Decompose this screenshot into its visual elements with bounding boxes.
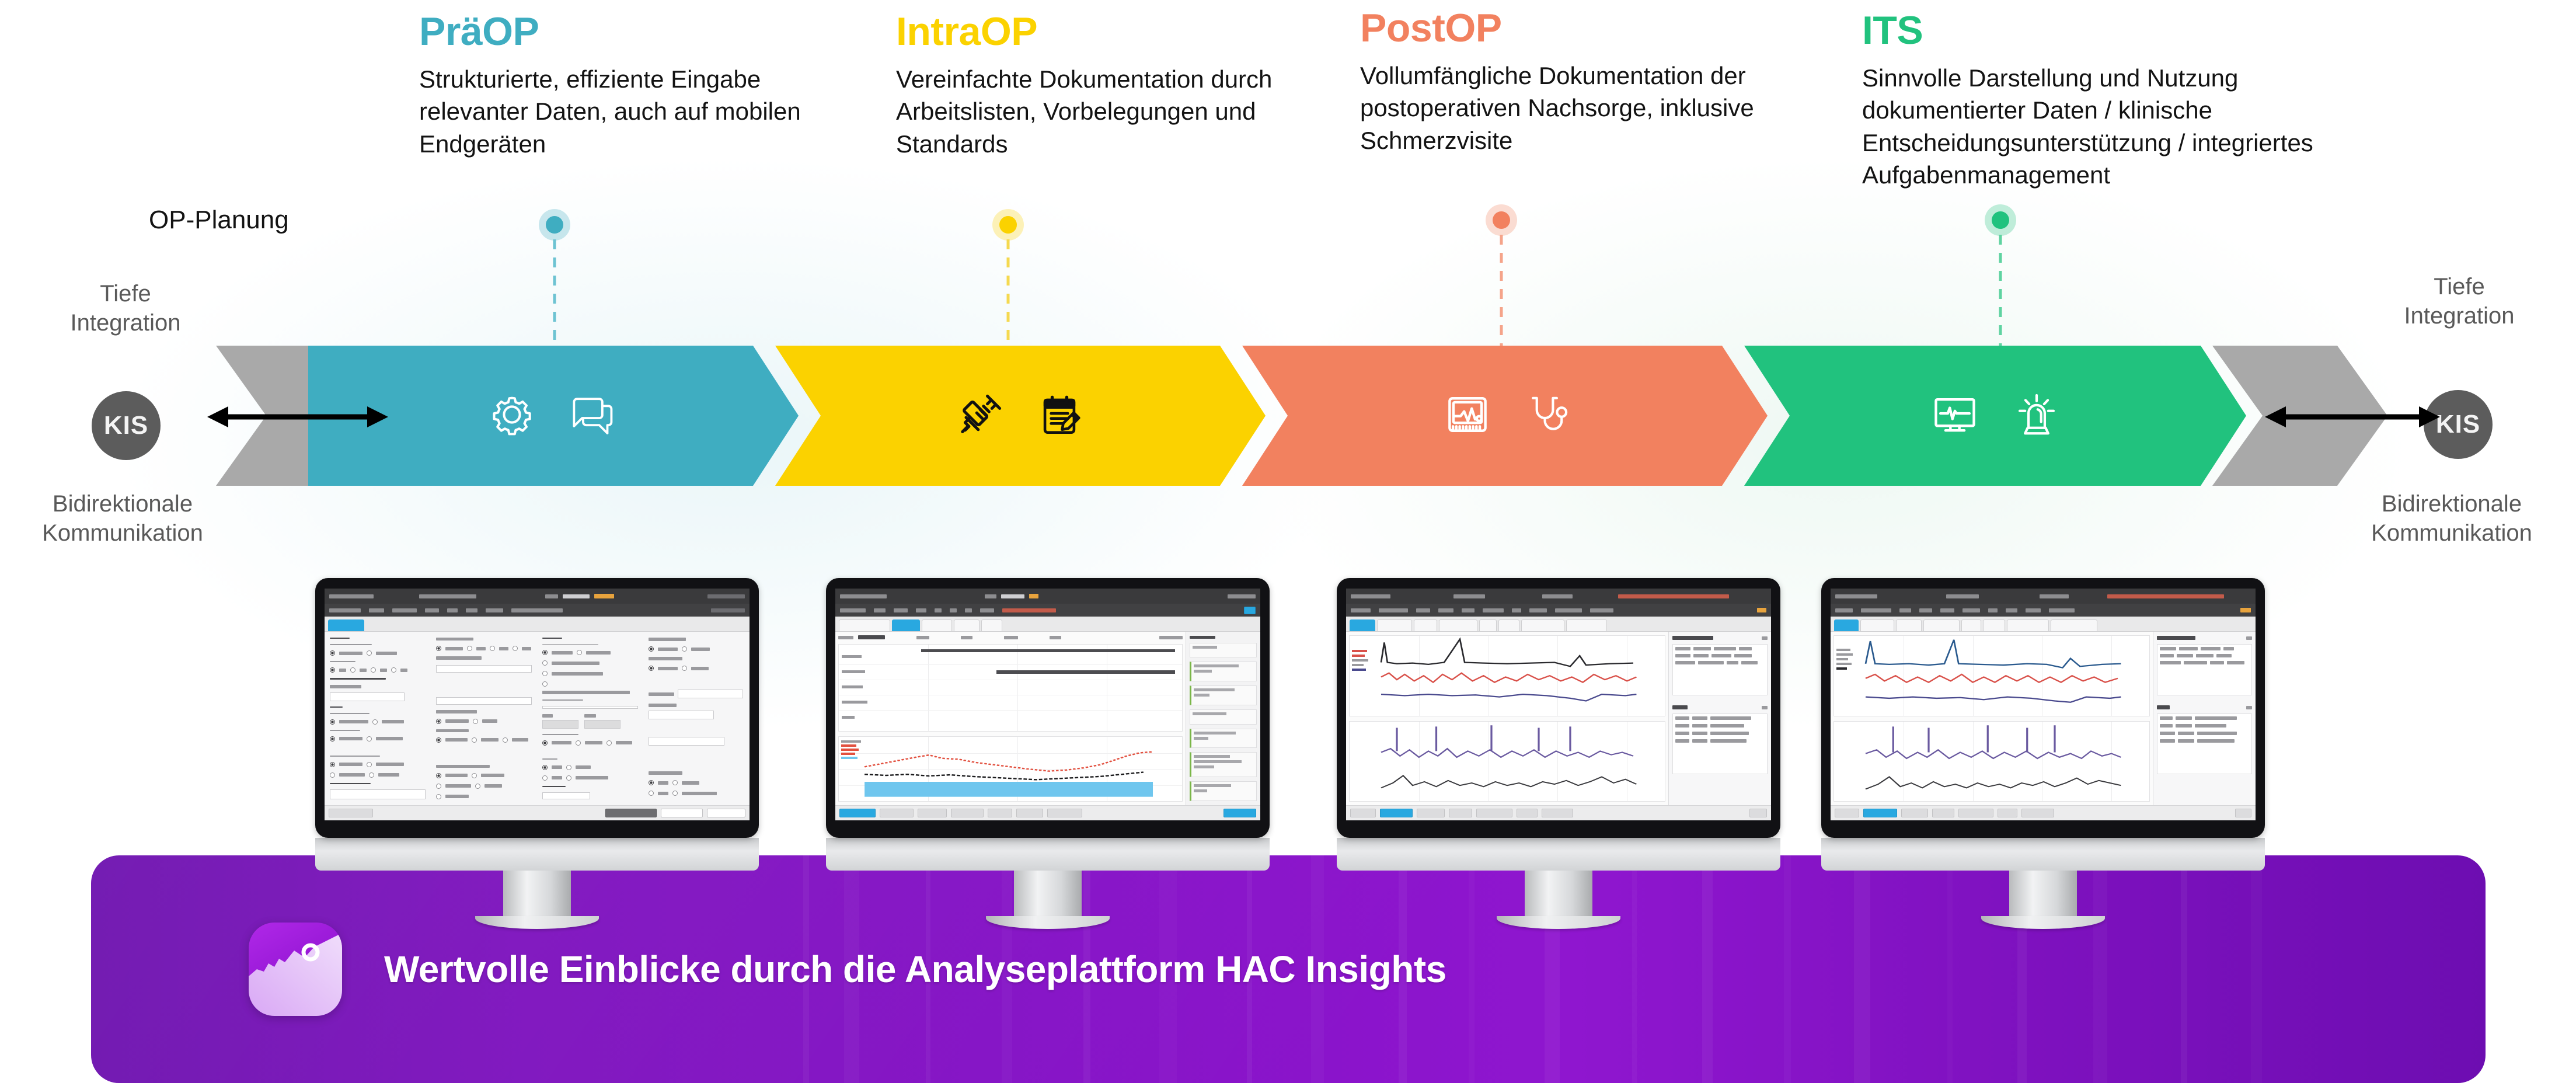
tab-3-2[interactable]	[1377, 619, 1412, 631]
phase-header-praeop: PräOP Strukturierte, effiziente Eingabe …	[419, 12, 839, 160]
left-communication-label: Bidirektionale Kommunikation	[0, 489, 245, 548]
monitor-screen-postop	[1346, 589, 1771, 820]
right-communication-line1: Bidirektionale	[2329, 489, 2574, 518]
monitor-neck-3	[1337, 838, 1780, 871]
monitor-neck-1	[315, 838, 759, 871]
tab-2-5[interactable]	[981, 619, 1002, 631]
phase-title-intraop: IntraOP	[896, 12, 1305, 51]
bottom-action-3-7[interactable]	[1542, 809, 1573, 817]
connector-dot-praeop	[539, 209, 570, 241]
side-card-2-1[interactable]	[1190, 643, 1257, 658]
chevron-its-icons	[1744, 346, 2246, 486]
app-bottom-bar-4[interactable]	[1831, 805, 2256, 820]
app-topbar-secondary-3	[1346, 604, 1771, 617]
form-column-left-1[interactable]	[325, 632, 431, 805]
side-panel-3[interactable]	[1668, 632, 1771, 805]
monitor-neck-4	[1821, 838, 2265, 871]
monitor-foot-4	[1981, 916, 2105, 929]
right-communication-label: Bidirektionale Kommunikation	[2329, 489, 2574, 548]
bottom-action-3-4[interactable]	[1449, 809, 1472, 817]
tab-2-3[interactable]	[922, 619, 952, 631]
phase-description-its: Sinnvolle Darstellung und Nutzung dokume…	[1862, 62, 2329, 192]
trend-charts-4[interactable]	[1831, 632, 2153, 805]
side-card-2-5[interactable]	[1190, 729, 1257, 749]
monitor-stand-2	[1014, 871, 1082, 916]
side-card-2-4[interactable]	[1190, 709, 1257, 725]
alarm-light-icon	[2011, 389, 2062, 443]
phase-title-its: ITS	[1862, 11, 2329, 50]
connector-dot-core-praeop	[546, 216, 563, 234]
bottom-action-4-end[interactable]	[2235, 809, 2251, 817]
app-tabs-3[interactable]	[1346, 617, 1771, 632]
trend-charts-3[interactable]	[1346, 632, 1668, 805]
connector-dot-core-postop	[1493, 211, 1510, 229]
right-integration-label: Tiefe Integration	[2351, 272, 2567, 331]
bottom-action-2-1[interactable]	[839, 809, 876, 817]
left-communication-line2: Kommunikation	[0, 518, 245, 548]
bottom-action-3-3[interactable]	[1417, 809, 1445, 817]
bottom-action-4-6[interactable]	[1998, 809, 2017, 817]
monitor-ecg-icon	[1928, 389, 1982, 443]
bottom-action-2-3[interactable]	[918, 809, 947, 817]
right-integration-line2: Integration	[2351, 301, 2567, 330]
tab-2-4[interactable]	[954, 619, 979, 631]
app-tabs-1[interactable]	[325, 617, 750, 632]
tab-4-6[interactable]	[1983, 619, 2005, 631]
monitor-foot-3	[1497, 916, 1620, 929]
connector-dot-core-its	[1992, 211, 2009, 229]
tab-4-7[interactable]	[2007, 619, 2049, 631]
bottom-action-4-1[interactable]	[1835, 809, 1859, 817]
app-topbar-3	[1346, 589, 1771, 604]
right-communication-line2: Kommunikation	[2329, 518, 2574, 548]
chat-bubbles-icon	[568, 389, 621, 443]
trend-chart-upper-3	[1349, 635, 1665, 716]
connector-dot-its	[1985, 204, 2016, 236]
tab-3-4[interactable]	[1439, 619, 1477, 631]
monitor-intraop	[826, 578, 1270, 929]
tab-4-5[interactable]	[1961, 619, 1981, 631]
monitor-postop	[1337, 578, 1780, 929]
bottom-action-2-4[interactable]	[951, 809, 984, 817]
connector-its	[1985, 204, 2016, 348]
bottom-action-4-5[interactable]	[1958, 809, 1993, 817]
app-topbar-secondary-1	[325, 604, 750, 617]
form-column-center-1[interactable]	[431, 632, 537, 805]
connector-intraop	[992, 209, 1024, 348]
bottom-action-3-5[interactable]	[1476, 809, 1512, 817]
notepad-pencil-icon	[1033, 388, 1086, 444]
infographic-canvas: PräOP Strukturierte, effiziente Eingabe …	[0, 0, 2576, 1086]
app-topbar-secondary-2	[835, 604, 1260, 617]
connector-dot-intraop	[992, 209, 1024, 241]
tab-3-8[interactable]	[1566, 619, 1607, 631]
tab-3-active[interactable]	[1350, 619, 1375, 631]
stethoscope-icon	[1522, 389, 1569, 443]
bottom-action-4-7[interactable]	[2021, 809, 2054, 817]
connector-line-its	[1999, 235, 2002, 348]
phase-header-intraop: IntraOP Vereinfachte Dokumentation durch…	[896, 12, 1305, 160]
tab-3-6[interactable]	[1498, 619, 1519, 631]
bottom-action-3-6[interactable]	[1517, 809, 1538, 817]
app-tabs-4[interactable]	[1831, 617, 2256, 632]
syringe-icon	[954, 388, 1008, 444]
tab-3-3[interactable]	[1414, 619, 1437, 631]
form-column-far-right-1[interactable]	[643, 632, 750, 805]
side-panel-4[interactable]	[2153, 632, 2256, 805]
tab-3-5[interactable]	[1479, 619, 1497, 631]
monitor-stand-1	[503, 871, 571, 916]
form-column-right-1[interactable]	[537, 632, 643, 805]
app-body-3	[1346, 632, 1771, 805]
phase-description-postop: Vollumfängliche Dokumentation der postop…	[1360, 60, 1792, 156]
monitor-bezel-4	[1821, 578, 2265, 838]
bidirectional-arrow-left	[207, 399, 388, 434]
tab-3-7[interactable]	[1521, 619, 1564, 631]
connector-line-postop	[1500, 235, 1503, 348]
monitor-screen-intraop	[835, 589, 1260, 820]
connector-praeop	[539, 209, 570, 348]
trend-chart-upper-4	[1833, 635, 2150, 716]
tab-4-4[interactable]	[1923, 619, 1960, 631]
hac-insights-logo	[249, 923, 342, 1016]
record-timeline-2[interactable]	[835, 632, 1186, 805]
app-topbar-1	[325, 589, 750, 604]
chevron-its[interactable]	[1744, 346, 2246, 486]
phase-description-praeop: Strukturierte, effiziente Eingabe releva…	[419, 63, 839, 160]
monitor-bezel-2	[826, 578, 1270, 838]
tab-4-3[interactable]	[1896, 619, 1922, 631]
save-button[interactable]	[661, 809, 703, 817]
app-tabs-2[interactable]	[835, 617, 1260, 632]
connector-line-praeop	[553, 239, 556, 348]
monitor-foot-2	[986, 916, 1110, 929]
vitals-chart-2	[838, 736, 1183, 802]
left-communication-line1: Bidirektionale	[0, 489, 245, 518]
chevron-postop-icons	[1242, 346, 1768, 486]
bottom-action-4-3[interactable]	[1901, 809, 1928, 817]
tab-4-8[interactable]	[2051, 619, 2097, 631]
timeline-rows-2	[838, 644, 1183, 732]
left-integration-line2: Integration	[18, 308, 233, 337]
connector-postop	[1486, 204, 1517, 348]
bottom-action-2-next[interactable]	[1223, 809, 1256, 817]
app-topbar-2	[835, 589, 1260, 604]
tab-2-active[interactable]	[892, 619, 920, 631]
monitor-screen-its	[1831, 589, 2256, 820]
bottom-action-3-2[interactable]	[1380, 809, 1413, 817]
monitor-bezel-1	[315, 578, 759, 838]
connector-dot-postop	[1486, 204, 1517, 236]
tab-4-2[interactable]	[1860, 619, 1894, 631]
bottom-action-2-2[interactable]	[880, 809, 914, 817]
phase-header-its: ITS Sinnvolle Darstellung und Nutzung do…	[1862, 11, 2329, 192]
tab-active-1[interactable]	[328, 619, 364, 631]
trend-chart-lower-3	[1349, 721, 1665, 802]
monitor-its	[1821, 578, 2265, 929]
tab-4-active[interactable]	[1834, 619, 1859, 631]
phase-description-intraop: Vereinfachte Dokumentation durch Arbeits…	[896, 63, 1305, 160]
ecg-monitor-icon	[1441, 389, 1494, 443]
monitor-stand-3	[1525, 871, 1592, 916]
bidirectional-arrow-right	[2265, 399, 2440, 434]
gear-icon	[486, 389, 538, 443]
trend-chart-lower-4	[1833, 721, 2150, 802]
bottom-action-3-1[interactable]	[1350, 809, 1376, 817]
app-body-2	[835, 632, 1260, 805]
tab-2-1[interactable]	[839, 619, 890, 631]
left-integration-label: Tiefe Integration	[18, 279, 233, 338]
side-card-2-6[interactable]	[1190, 752, 1257, 777]
banner-title: Wertvolle Einblicke durch die Analysepla…	[384, 948, 1446, 991]
app-bottom-bar-3[interactable]	[1346, 805, 1771, 820]
monitor-neck-2	[826, 838, 1270, 871]
right-integration-line1: Tiefe	[2351, 272, 2567, 301]
monitor-bezel-3	[1337, 578, 1780, 838]
chevron-intraop[interactable]	[775, 346, 1266, 486]
monitor-screen-praeop	[325, 589, 750, 820]
side-panel-2[interactable]	[1186, 632, 1260, 805]
chevron-postop[interactable]	[1242, 346, 1768, 486]
side-card-2-7[interactable]	[1190, 781, 1257, 801]
monitor-stand-4	[2009, 871, 2077, 916]
left-integration-line1: Tiefe	[18, 279, 233, 308]
app-bottom-bar-1[interactable]	[325, 805, 750, 820]
app-body-1	[325, 632, 750, 805]
monitor-foot-1	[475, 916, 599, 929]
app-topbar-secondary-4	[1831, 604, 2256, 617]
phase-header-postop: PostOP Vollumfängliche Dokumentation der…	[1360, 8, 1792, 156]
bottom-action-2-5[interactable]	[988, 809, 1012, 817]
bottom-action-4-4[interactable]	[1932, 809, 1954, 817]
app-bottom-bar-2[interactable]	[835, 805, 1260, 820]
op-planung-label: OP-Planung	[149, 206, 289, 235]
cancel-button[interactable]	[707, 809, 745, 817]
bottom-action-3-end[interactable]	[1749, 809, 1767, 817]
connector-line-intraop	[1007, 239, 1010, 348]
side-card-2-2[interactable]	[1190, 662, 1257, 681]
save-and-close-button[interactable]	[605, 809, 657, 817]
phase-title-praeop: PräOP	[419, 12, 839, 51]
app-topbar-4	[1831, 589, 2256, 604]
app-body-4	[1831, 632, 2256, 805]
monitor-praeop	[315, 578, 759, 929]
connector-dot-core-intraop	[999, 216, 1017, 234]
clear-defaults-button[interactable]	[329, 809, 373, 817]
bottom-action-2-7[interactable]	[1047, 809, 1082, 817]
bottom-action-4-2[interactable]	[1863, 809, 1897, 817]
chevron-intraop-icons	[775, 346, 1266, 486]
side-card-2-3[interactable]	[1190, 685, 1257, 705]
bottom-action-2-6[interactable]	[1016, 809, 1043, 817]
phase-title-postop: PostOP	[1360, 8, 1792, 48]
